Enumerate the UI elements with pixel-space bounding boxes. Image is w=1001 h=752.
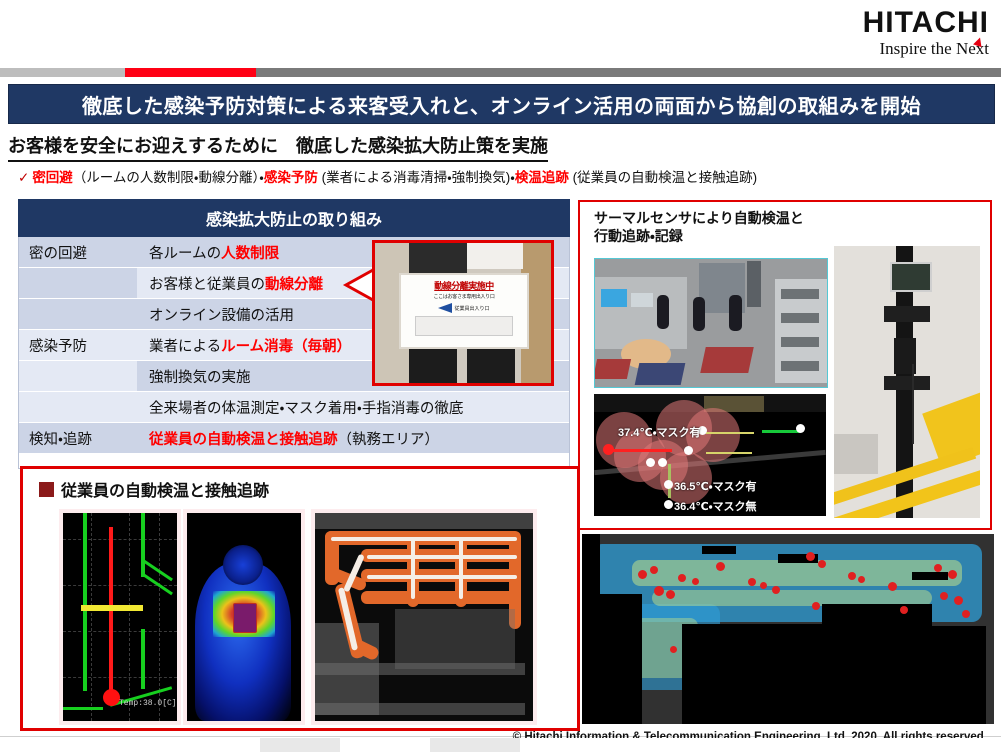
floorplan-temp-label: Temp:38.0[C] — [119, 699, 177, 708]
thermal-caption-line-1: サーマルセンサにより自動検温と — [594, 210, 804, 228]
photo-panel-dark-bottom-right — [467, 349, 515, 383]
table-cell-category — [19, 361, 137, 391]
pole-photo-bracket-bottom — [884, 376, 930, 390]
measure-plain: オンライン設備の活用 — [149, 304, 294, 325]
table-cell-category — [19, 299, 137, 329]
bullet-part-1: （ルームの人数制限・動線分離）・ — [73, 170, 264, 185]
floorplan-wall — [141, 513, 145, 577]
signage-minimap — [415, 316, 513, 336]
pole-photo-sensor-head — [890, 262, 932, 292]
tt-marker — [658, 458, 667, 467]
table-cell-measure: 従業員の自動検温と接触追跡（執務エリア） — [137, 423, 569, 453]
employee-tracking-caption-text: 従業員の自動検温と接触追跡 — [61, 477, 269, 501]
tt-marker — [684, 446, 693, 455]
tt-track-yellow — [706, 432, 754, 434]
photo-monitor-1 — [601, 289, 627, 307]
tt-marker-origin — [603, 444, 614, 455]
bullet-part-5: (従業員の自動検温と接触追跡) — [569, 170, 757, 185]
pole-photo-bracket-top — [884, 306, 930, 322]
photo-person-2 — [693, 297, 705, 331]
table-cell-category: 検知・追跡 — [19, 423, 137, 453]
measure-plain: 各ルームの — [149, 242, 221, 263]
tracking-path-yellow — [81, 605, 143, 611]
signage-holder: 動線分離実施中 ここはお客さま専用出入り口 従業員出入り口 — [399, 273, 529, 349]
accent-bar-red-segment — [125, 68, 256, 77]
check-icon: ✓ — [18, 170, 29, 185]
photo-panel-dark-bottom-left — [409, 349, 457, 383]
employee-tracking-panel: 従業員の自動検温と接触追跡 Temp:38.0[C] — [20, 466, 580, 731]
floorplan-wall — [63, 707, 103, 710]
tt-track-green — [762, 430, 800, 433]
bullet-part-2: 感染予防 — [264, 170, 318, 185]
thermal-sensor-caption: サーマルセンサにより自動検温と 行動追跡・記録 — [594, 210, 804, 245]
photo-person-1 — [657, 295, 669, 329]
floorplan-tracking-image: Temp:38.0[C] — [59, 509, 181, 725]
measure-highlight: 人数制限 — [221, 242, 279, 263]
signage-arrow-row: 従業員出入り口 — [401, 303, 527, 313]
measure-plain: 全来場者の体温測定・マスク着用・手指消毒の徹底 — [149, 397, 463, 418]
measure-highlight: ルーム消毒（毎朝） — [221, 335, 351, 356]
photo-monitor-2 — [631, 293, 653, 307]
photo-desk-area — [595, 277, 687, 349]
title-band: 徹底した感染予防対策による来客受入れと、オンライン活用の両面から協創の取組みを開… — [8, 84, 995, 124]
tt-track-red — [606, 449, 672, 452]
accent-bar-light-segment — [0, 68, 125, 77]
table-cell-category: 密の回避 — [19, 237, 137, 267]
office-entrance-cctv-photo — [594, 258, 828, 388]
table-cell-measure: 全来場者の体温測定・マスク着用・手指消毒の徹底 — [137, 392, 569, 422]
signage-line-2: ここはお客さま専用出入り口 — [401, 293, 527, 300]
footer-bar-segment-2 — [430, 738, 520, 752]
thermal-sensor-panel: サーマルセンサにより自動検温と 行動追跡・記録 — [578, 200, 992, 530]
bullet-part-4: 検温追跡 — [515, 170, 569, 185]
orange-trace-heatmap-image — [311, 509, 537, 725]
page-subtitle: お客様を安全にお迎えするために 徹底した感染拡大防止策を実施 — [8, 132, 548, 162]
floorplan-wall — [141, 629, 145, 689]
tracking-path-red — [109, 527, 113, 697]
logo-tagline: Inspire the Next ▲ — [879, 40, 989, 57]
measure-plain: お客様と従業員の — [149, 273, 265, 294]
photo-panel-dark-top — [409, 243, 467, 273]
employee-tracking-caption: 従業員の自動検温と接触追跡 — [39, 477, 269, 501]
photo-blue-mat — [635, 363, 686, 385]
bullet-part-0: 密回避 — [32, 170, 73, 185]
tt-label-temp-2: 36.5℃・マスク有 — [674, 478, 756, 494]
thermal-caption-line-2: 行動追跡・記録 — [594, 228, 804, 246]
measure-highlight: 動線分離 — [265, 273, 323, 294]
photo-red-mat-2 — [594, 359, 631, 379]
accent-bar — [0, 68, 1001, 77]
pole-photo-cable — [912, 364, 914, 444]
tt-track-yellow — [706, 452, 752, 454]
measure-plain: 強制換気の実施 — [149, 366, 251, 387]
logo-wordmark: HITACHI — [863, 8, 989, 38]
slide-root: HITACHI Inspire the Next ▲ 徹底した感染予防対策による… — [0, 0, 1001, 752]
tracking-endpoint-marker — [103, 689, 120, 706]
signage-line-1: 動線分離実施中 — [401, 279, 527, 292]
thermal-person-head — [223, 545, 263, 585]
footer-bar-segment-1 — [260, 738, 340, 752]
photo-red-mat — [700, 347, 754, 373]
bullet-line: ✓密回避（ルームの人数制限・動線分離）・感染予防 (業者による消毒清掃・強制換気… — [18, 166, 757, 186]
tt-label-temp-3: 36.4℃・マスク無 — [674, 498, 756, 514]
left-arrow-icon — [438, 303, 452, 313]
thermal-person-body — [195, 563, 291, 721]
hitachi-logo: HITACHI Inspire the Next ▲ — [863, 8, 989, 58]
thermal-core-region — [233, 603, 257, 633]
photo-equipment-rack — [775, 279, 827, 383]
tt-marker — [646, 458, 655, 467]
trace-path — [361, 591, 521, 604]
floorplan-wall — [83, 513, 87, 691]
table-row: 検知・追跡 従業員の自動検温と接触追跡（執務エリア） — [19, 423, 569, 454]
measures-table-header: 感染拡大防止の取り組み — [18, 199, 570, 237]
tt-marker — [664, 480, 673, 489]
photo-person-3 — [729, 295, 742, 331]
table-cell-category — [19, 392, 137, 422]
photo-panel-light-top — [467, 243, 523, 269]
tt-marker — [796, 424, 805, 433]
measure-tail: （執務エリア） — [338, 428, 440, 449]
blue-density-heatmap-image — [582, 534, 994, 724]
slide-title: 徹底した感染予防対策による来客受入れと、オンライン活用の両面から協創の取組みを開… — [82, 90, 921, 119]
photo-security-gate-2 — [747, 261, 761, 307]
doorway-signage-photo: 動線分離実施中 ここはお客さま専用出入り口 従業員出入り口 — [372, 240, 554, 386]
measure-highlight: 従業員の自動検温と接触追跡 — [149, 428, 338, 449]
footer-bar — [0, 738, 1001, 752]
square-bullet-icon — [39, 482, 54, 497]
callout-arrow-icon — [340, 268, 374, 302]
thermal-sensor-pole-photo — [834, 246, 980, 518]
thermal-person-image — [183, 509, 305, 725]
tt-label-temp-1: 37.4℃・マスク有 — [618, 424, 700, 440]
pole-photo-equipment-box — [834, 434, 878, 474]
thermal-tracking-overlay-photo: 37.4℃・マスク有 36.5℃・マスク有 36.4℃・マスク無 — [594, 394, 826, 516]
table-row: 全来場者の体温測定・マスク着用・手指消毒の徹底 — [19, 392, 569, 423]
measure-plain: 業者による — [149, 335, 221, 356]
table-cell-category — [19, 268, 137, 298]
bullet-part-3: (業者による消毒清掃・強制換気)・ — [318, 170, 515, 185]
table-cell-category: 感染予防 — [19, 330, 137, 360]
signage-line-3: 従業員出入り口 — [454, 305, 489, 312]
tt-marker — [664, 500, 673, 509]
